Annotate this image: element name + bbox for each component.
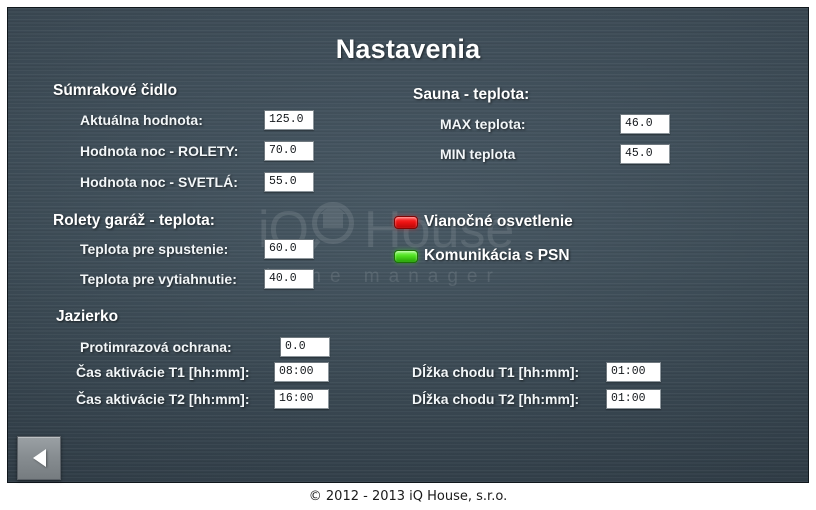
footer-copyright: © 2012 - 2013 iQ House, s.r.o. <box>0 489 816 504</box>
label-protimrazova-ochrana: Protimrazová ochrana: <box>80 339 232 355</box>
input-cas-aktivacie-t2[interactable]: 16:00 <box>274 389 329 409</box>
back-button[interactable] <box>17 436 61 480</box>
label-max-teplota: MAX teplota: <box>440 116 526 132</box>
group-heading-garage-blinds: Rolety garáž - teplota: <box>53 212 215 230</box>
led-psn-communication[interactable] <box>394 250 418 263</box>
input-dlzka-chodu-t2[interactable]: 01:00 <box>606 389 661 409</box>
input-dlzka-chodu-t1[interactable]: 01:00 <box>606 362 661 382</box>
label-aktualna-hodnota: Aktuálna hodnota: <box>80 112 203 128</box>
input-teplota-pre-vytiahnutie[interactable]: 40.0 <box>264 269 314 289</box>
page-title: Nastavenia <box>8 34 808 65</box>
input-cas-aktivacie-t1[interactable]: 08:00 <box>274 362 329 382</box>
led-christmas-lights[interactable] <box>394 216 418 229</box>
label-dlzka-chodu-t2: Dĺžka chodu T2 [hh:mm]: <box>412 391 579 407</box>
group-heading-dusk-sensor: Súmrakové čidlo <box>53 82 177 100</box>
magnifier-house-icon <box>310 200 364 260</box>
input-min-teplota[interactable]: 45.0 <box>620 144 670 164</box>
label-dlzka-chodu-t1: Dĺžka chodu T1 [hh:mm]: <box>412 364 579 380</box>
settings-page: iQ House home manager Nastavenia Súmrako… <box>0 0 816 510</box>
label-teplota-pre-vytiahnutie: Teplota pre vytiahnutie: <box>80 271 237 287</box>
label-hodnota-noc-rolety: Hodnota noc - ROLETY: <box>80 143 238 159</box>
settings-panel: iQ House home manager Nastavenia Súmrako… <box>7 7 809 483</box>
label-christmas-lights: Vianočné osvetlenie <box>424 213 573 231</box>
input-aktualna-hodnota[interactable]: 125.0 <box>264 110 314 130</box>
input-max-teplota[interactable]: 46.0 <box>620 114 670 134</box>
label-hodnota-noc-svetla: Hodnota noc - SVETLÁ: <box>80 174 238 190</box>
input-hodnota-noc-svetla[interactable]: 55.0 <box>264 172 314 192</box>
label-min-teplota: MIN teplota <box>440 146 515 162</box>
group-heading-pond: Jazierko <box>56 308 118 326</box>
label-cas-aktivacie-t2: Čas aktivácie T2 [hh:mm]: <box>76 391 250 407</box>
input-teplota-pre-spustenie[interactable]: 60.0 <box>264 239 314 259</box>
group-heading-sauna: Sauna - teplota: <box>413 86 529 104</box>
input-hodnota-noc-rolety[interactable]: 70.0 <box>264 141 314 161</box>
left-triangle-icon <box>33 449 46 467</box>
label-cas-aktivacie-t1: Čas aktivácie T1 [hh:mm]: <box>76 364 250 380</box>
label-teplota-pre-spustenie: Teplota pre spustenie: <box>80 241 228 257</box>
label-psn-communication: Komunikácia s PSN <box>424 247 570 265</box>
input-protimrazova-ochrana[interactable]: 0.0 <box>280 337 330 357</box>
